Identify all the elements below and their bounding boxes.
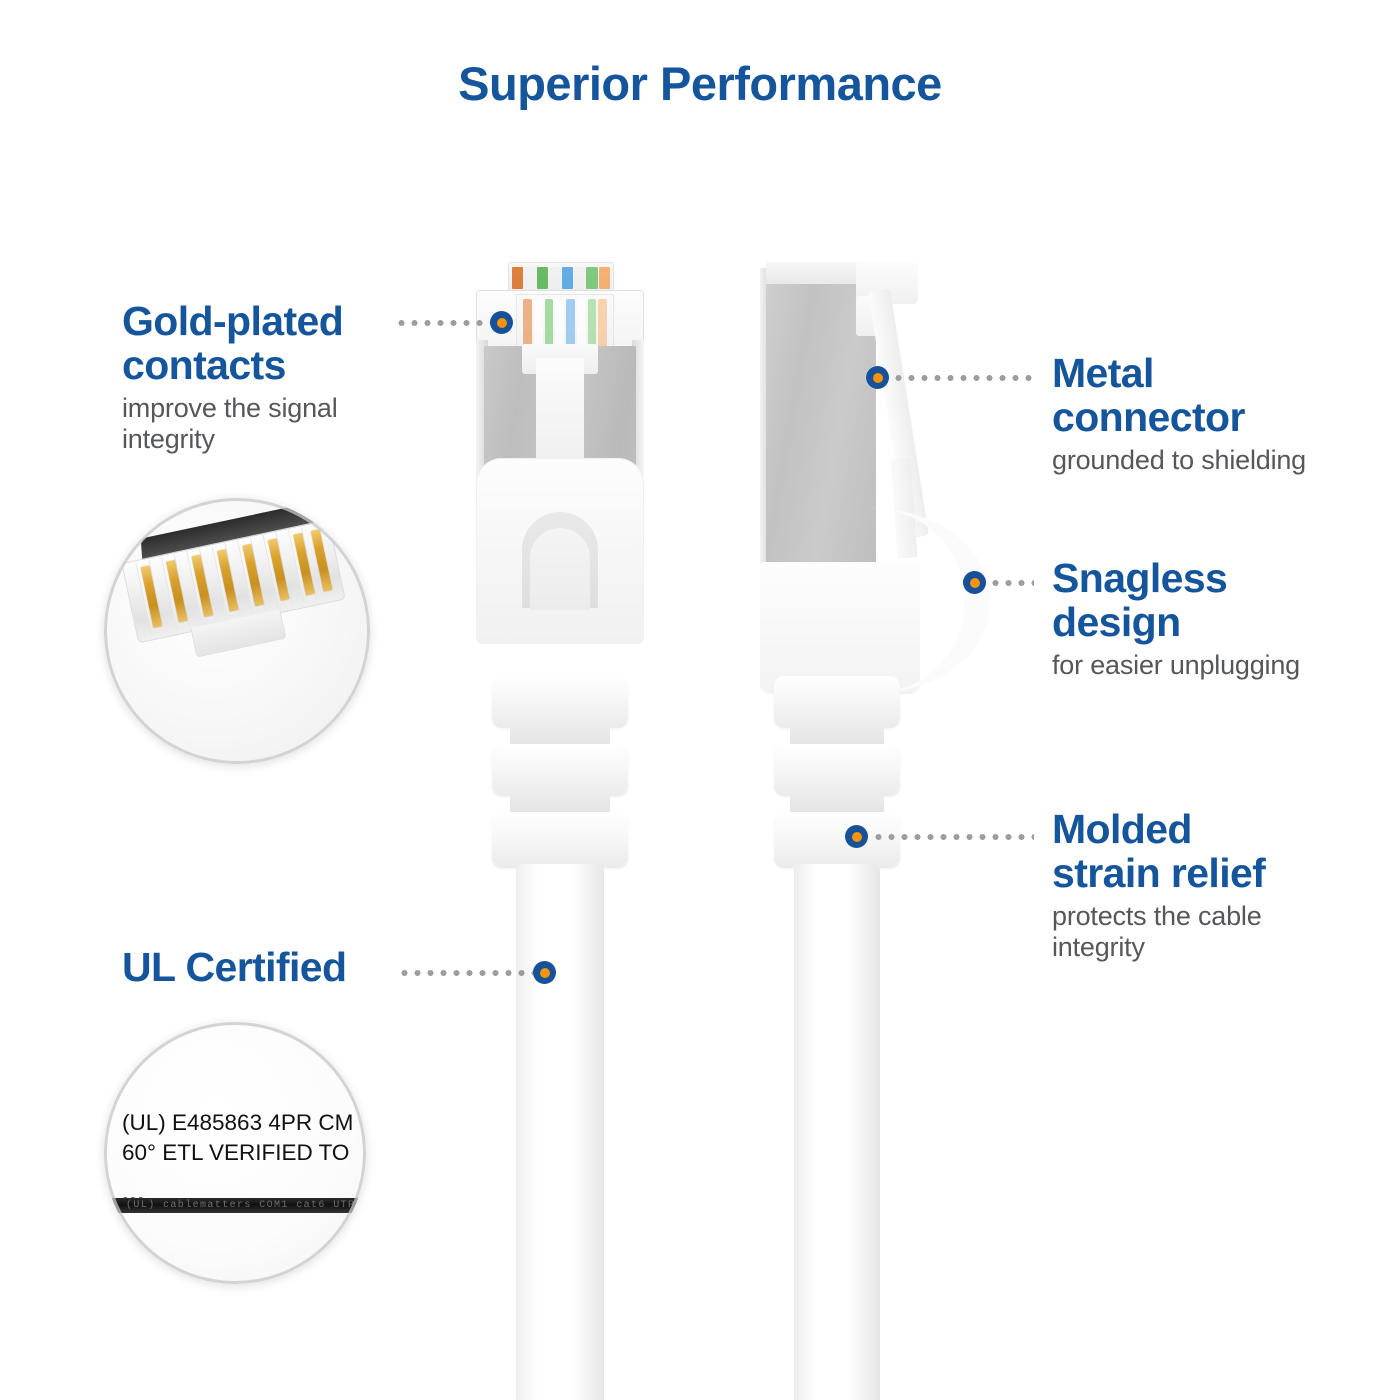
leader-line-molded-strain-relief [872,834,1034,840]
strain-relief-rib-3 [492,812,628,868]
callout-heading: Molded strain relief [1052,808,1362,896]
infographic-canvas: Superior Performance [0,0,1400,1400]
callout-gold-plated-contacts: Gold-plated contacts improve the signal … [122,300,402,455]
rj45-plug-macro [109,498,363,690]
snagless-boot-curve [870,508,990,694]
marker-metal-connector[interactable] [866,366,889,389]
callout-molded-strain-relief: Molded strain relief protects the cable … [1052,808,1362,963]
strain-relief-rib-2 [492,744,628,796]
callout-snagless-design: Snagless design for easier unplugging [1052,557,1352,681]
callout-metal-connector: Metal connector grounded to shielding [1052,352,1352,476]
strain-relief-rib-3 [774,812,900,868]
callout-heading: Metal connector [1052,352,1352,440]
strain-relief-rib-1 [774,676,900,728]
gold-plated-contacts-closeup [104,498,370,764]
callout-ul-certified: UL Certified [122,946,412,990]
cable-jacket-right [794,864,880,1400]
rj45-connector-side-view [752,262,984,1400]
marker-gold-plated-contacts[interactable] [490,311,513,334]
callout-heading: UL Certified [122,946,412,990]
cable-print-band-text: (UL) cablematters COM1 cat6 UTP [104,1198,366,1213]
latch-tab [536,358,584,462]
ul-label-text: (UL) E485863 4PR CM 60° ETL VERIFIED TO [122,1108,354,1168]
leader-line-metal-connector [892,375,1032,381]
page-title: Superior Performance [0,56,1400,111]
cable-print-band: (UL) cablematters COM1 cat6 UTP [104,1198,366,1213]
ul-certification-closeup: (UL) E485863 4PR CM 60° ETL VERIFIED TO … [104,1022,366,1284]
rj45-connector-front-view [470,262,650,1400]
marker-molded-strain-relief[interactable] [845,825,868,848]
twisted-pair-wires-top [512,267,610,289]
strain-relief-rib-1 [492,676,628,728]
strain-relief-rib-2 [774,744,900,796]
callout-subtitle: grounded to shielding [1052,445,1352,476]
boot-arch-inner [530,528,590,610]
callout-subtitle: improve the signal integrity [122,393,402,456]
marker-ul-certified[interactable] [533,961,556,984]
leader-line-ul-certified [398,970,536,976]
leader-line-gold-plated-contacts [395,320,491,326]
marker-snagless-design[interactable] [963,571,986,594]
callout-heading: Gold-plated contacts [122,300,402,388]
callout-subtitle: protects the cable integrity [1052,901,1362,964]
callout-subtitle: for easier unplugging [1052,650,1352,681]
cable-jacket-left [516,864,604,1400]
callout-heading: Snagless design [1052,557,1352,645]
